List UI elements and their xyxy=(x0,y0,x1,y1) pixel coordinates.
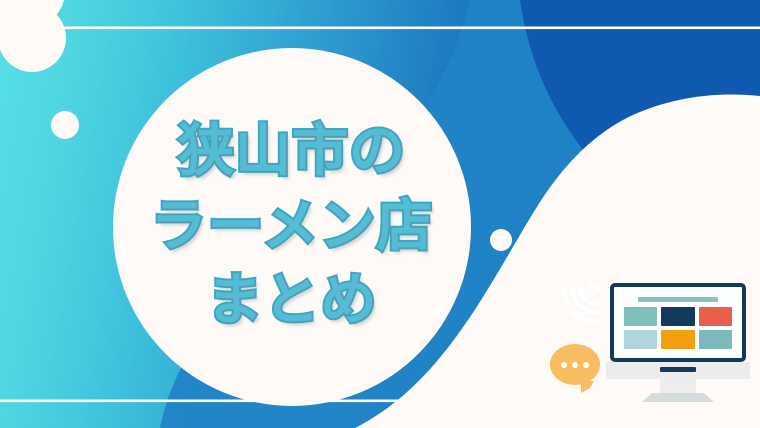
chat-dot-3 xyxy=(583,362,589,368)
top-left-large-circle xyxy=(0,4,66,72)
monitor-chin xyxy=(606,362,750,379)
monitor-bezel xyxy=(610,283,746,362)
tile-teal xyxy=(624,307,657,326)
monitor-stand-base xyxy=(642,393,714,402)
screen-tile-row-1 xyxy=(624,307,732,326)
top-white-rule xyxy=(0,27,760,30)
navy-wave-small-circle xyxy=(599,271,609,281)
banner-canvas: 狭山市の ラーメン店 まとめ xyxy=(0,0,760,428)
tile-orange xyxy=(661,330,694,349)
tile-coral xyxy=(699,307,732,326)
monitor-stand-neck xyxy=(660,379,696,395)
mid-right-small-circle xyxy=(490,229,512,251)
desktop-monitor-illustration xyxy=(610,283,746,387)
tile-light-blue xyxy=(624,330,657,349)
screen-header-bar xyxy=(638,297,718,302)
title-circle-backdrop xyxy=(113,48,471,406)
monitor-screen xyxy=(618,291,738,354)
screen-tile-row-2 xyxy=(624,330,732,349)
chat-dot-1 xyxy=(561,362,567,368)
top-left-small-circle xyxy=(51,111,79,139)
bottom-white-rule xyxy=(0,400,470,403)
mid-right-large-circle xyxy=(480,309,526,355)
tile-navy xyxy=(661,307,694,326)
chat-bubble-icon xyxy=(550,344,600,385)
tile-teal-2 xyxy=(699,330,732,349)
chat-dot-2 xyxy=(572,362,578,368)
monitor-chin-bar xyxy=(660,367,696,372)
